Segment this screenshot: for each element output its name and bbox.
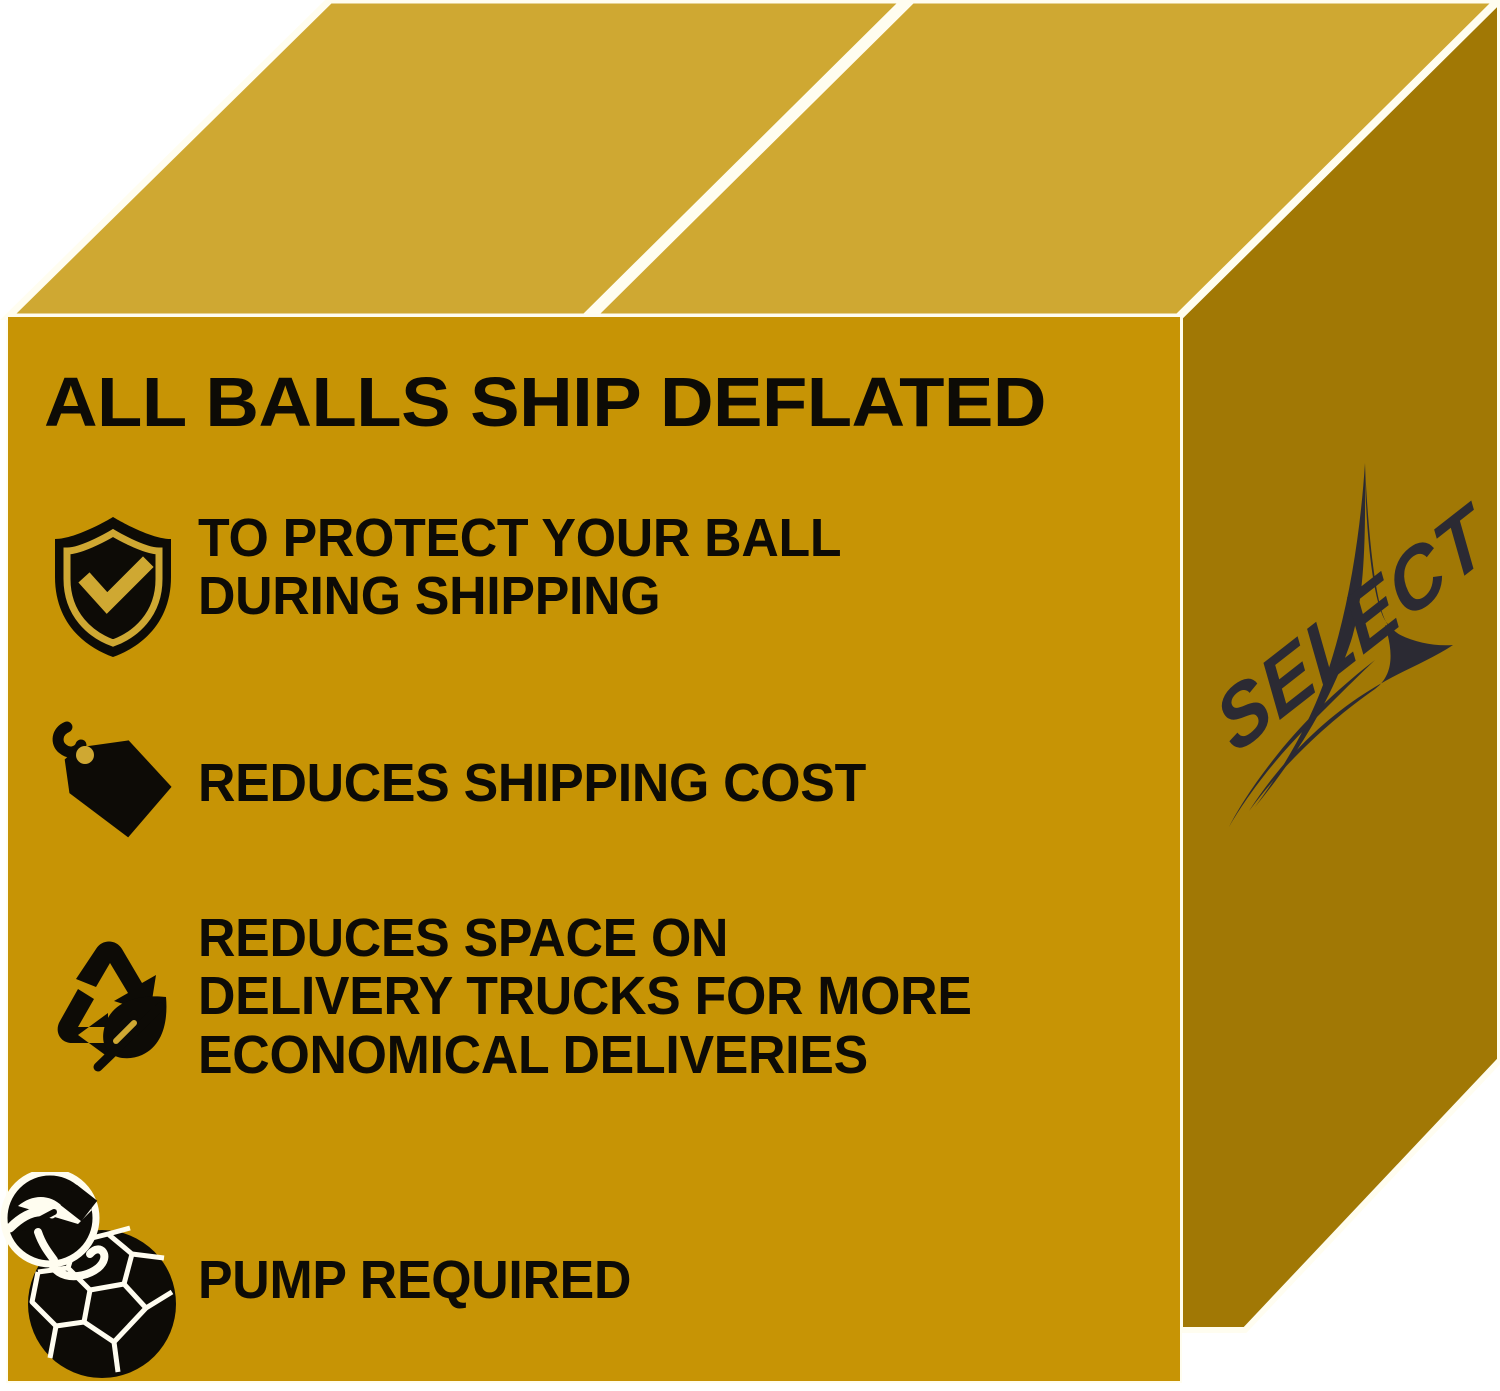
pump-ball-icon — [0, 1172, 195, 1387]
box-front-face: ALL BALLS SHIP DEFLATED TO PROTECT YOUR … — [8, 317, 1180, 1381]
shield-check-icon-wrap — [28, 507, 198, 661]
infographic-canvas: ALL BALLS SHIP DEFLATED TO PROTECT YOUR … — [0, 0, 1500, 1391]
benefit-text-cost: REDUCES SHIPPING COST — [198, 752, 866, 812]
benefit-text-protect: TO PROTECT YOUR BALL DURING SHIPPING — [198, 507, 841, 626]
benefit-text-pump: PUMP REQUIRED — [198, 1249, 631, 1309]
benefit-item-space: REDUCES SPACE ON DELIVERY TRUCKS FOR MOR… — [28, 907, 1178, 1084]
box-side-face — [1150, 0, 1500, 1391]
benefit-text-space: REDUCES SPACE ON DELIVERY TRUCKS FOR MOR… — [198, 907, 972, 1084]
page-title: ALL BALLS SHIP DEFLATED — [44, 367, 1231, 437]
benefit-item-cost: REDUCES SHIPPING COST — [28, 717, 1178, 847]
price-tag-icon-wrap — [28, 717, 198, 847]
shield-check-icon — [47, 513, 179, 661]
benefit-item-pump: PUMP REQUIRED — [28, 1172, 1178, 1387]
price-tag-icon — [43, 717, 183, 847]
recycle-leaf-icon — [38, 927, 188, 1077]
benefit-item-protect: TO PROTECT YOUR BALL DURING SHIPPING — [28, 507, 1178, 661]
box-side-panel — [1180, 0, 1500, 1330]
pump-ball-icon-wrap — [28, 1172, 198, 1387]
recycle-leaf-icon-wrap — [28, 907, 198, 1077]
